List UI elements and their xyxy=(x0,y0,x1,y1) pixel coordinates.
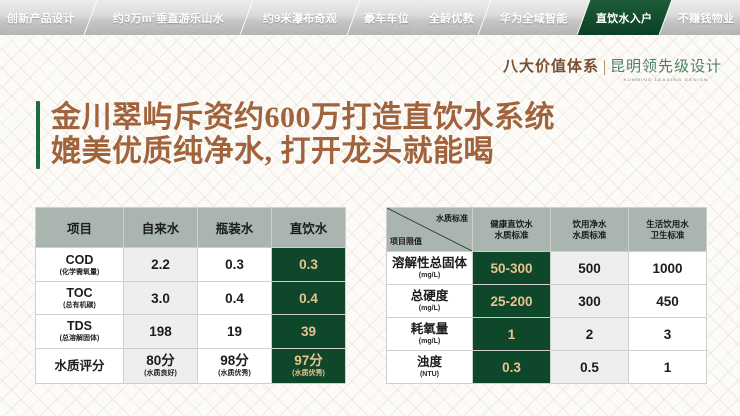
cell-value: 50-300 xyxy=(473,261,550,276)
nav-tab-label: 约9米瀑布奇观 xyxy=(263,10,337,26)
nav-tab-label: 全龄优教 xyxy=(429,10,474,26)
cell-value: 39 xyxy=(272,324,345,339)
value-cell: 80分(水质良好) xyxy=(124,348,198,383)
page-title: 金川翠屿斥资约600万打造直饮水系统 媲美优质纯净水, 打开龙头就能喝 xyxy=(51,101,555,169)
cell-value: 198 xyxy=(124,324,197,339)
nav-tab-label: 创新产品设计 xyxy=(7,10,75,26)
table-row: 浊度(NTU)0.30.51 xyxy=(387,351,707,384)
cell-value: 2 xyxy=(551,327,628,342)
diagonal-header-bottom-left: 项目限值 xyxy=(390,236,422,247)
table-header-row: 水质标准项目限值健康直饮水水质标准饮用净水水质标准生活饮用水卫生标准 xyxy=(387,208,707,252)
column-header-line-2: 卫生标准 xyxy=(629,230,706,241)
cell-value: 500 xyxy=(551,261,628,276)
cell-value: 2.2 xyxy=(124,257,197,272)
headline-accent-bar xyxy=(36,101,40,169)
brand-lockup: 八大价值体系 昆明领先级设计 KUNMING LEADING DESIGN xyxy=(503,58,722,82)
cell-value: 98分(水质优秀) xyxy=(198,353,271,378)
cell-subvalue: (水质优秀) xyxy=(272,369,345,378)
column-header-2: 自来水 xyxy=(124,208,198,248)
row-sublabel: (化学需氧量) xyxy=(36,268,123,277)
water-standard-table: 水质标准项目限值健康直饮水水质标准饮用净水水质标准生活饮用水卫生标准溶解性总固体… xyxy=(386,207,707,384)
table-row: 总硬度(mg/L)25-200300450 xyxy=(387,285,707,318)
row-label-cell: 溶解性总固体(mg/L) xyxy=(387,252,473,285)
value-cell: 3 xyxy=(629,318,707,351)
row-label: TDS(总溶解固体) xyxy=(36,319,123,343)
cell-value: 1 xyxy=(473,327,550,342)
table-row: TDS(总溶解固体)1981939 xyxy=(36,315,346,348)
nav-tab-3[interactable]: 约9米瀑布奇观 xyxy=(240,0,360,35)
value-cell: 98分(水质优秀) xyxy=(198,348,272,383)
cell-value: 3 xyxy=(629,327,706,342)
diagonal-header-cell: 水质标准项目限值 xyxy=(387,208,473,252)
row-label: COD(化学需氧量) xyxy=(36,253,123,277)
value-cell: 0.4 xyxy=(272,281,346,314)
table-row: TOC(总有机碳)3.00.40.4 xyxy=(36,281,346,314)
table-row: COD(化学需氧量)2.20.30.3 xyxy=(36,248,346,281)
nav-tab-1[interactable]: 创新产品设计 xyxy=(0,0,97,35)
column-header-4: 直饮水 xyxy=(272,208,346,248)
cell-value: 300 xyxy=(551,294,628,309)
row-label: 总硬度(mg/L) xyxy=(387,289,472,313)
row-unit: (NTU) xyxy=(387,370,472,379)
nav-tab-8[interactable]: 不赚钱物业 xyxy=(659,0,740,35)
column-header-2: 饮用净水水质标准 xyxy=(551,208,629,252)
row-label-cell: 总硬度(mg/L) xyxy=(387,285,473,318)
row-unit: (mg/L) xyxy=(387,304,472,313)
cell-subvalue: (水质优秀) xyxy=(198,369,271,378)
nav-tab-label: 直饮水入户 xyxy=(596,10,653,26)
value-cell: 198 xyxy=(124,315,198,348)
row-label: TOC(总有机碳) xyxy=(36,286,123,310)
value-cell: 97分(水质优秀) xyxy=(272,348,346,383)
cell-value: 0.4 xyxy=(272,291,345,306)
headline-block: 金川翠屿斥资约600万打造直饮水系统 媲美优质纯净水, 打开龙头就能喝 xyxy=(36,101,555,169)
value-cell: 1 xyxy=(629,351,707,384)
nav-tab-label: 华为全域智能 xyxy=(500,10,568,26)
headline-line-2: 媲美优质纯净水, 打开龙头就能喝 xyxy=(51,135,555,169)
cell-value: 97分(水质优秀) xyxy=(272,353,345,378)
cell-value: 80分(水质良好) xyxy=(124,353,197,378)
row-label: 浊度(NTU) xyxy=(387,355,472,379)
value-cell: 19 xyxy=(198,315,272,348)
cell-value: 19 xyxy=(198,324,271,339)
brand-divider xyxy=(604,60,605,75)
value-cell: 0.3 xyxy=(198,248,272,281)
value-cell: 0.5 xyxy=(551,351,629,384)
brand-subtitle: 昆明领先级设计 xyxy=(610,58,722,76)
table-row: 耗氧量(mg/L)123 xyxy=(387,318,707,351)
tables-container: 项目自来水瓶装水直饮水COD(化学需氧量)2.20.30.3TOC(总有机碳)3… xyxy=(0,207,740,384)
value-cell: 50-300 xyxy=(473,252,551,285)
column-header-1: 健康直饮水水质标准 xyxy=(473,208,551,252)
nav-tab-label: 豪车车位 xyxy=(363,10,408,26)
value-cell: 1000 xyxy=(629,252,707,285)
row-unit: (mg/L) xyxy=(387,271,472,280)
column-header-line-1: 生活饮用水 xyxy=(629,219,706,230)
row-label: 水质评分 xyxy=(36,359,123,373)
value-cell: 3.0 xyxy=(124,281,198,314)
column-header-line-2: 水质标准 xyxy=(473,230,550,241)
table-row: 水质评分80分(水质良好)98分(水质优秀)97分(水质优秀) xyxy=(36,348,346,383)
row-label-cell: TDS(总溶解固体) xyxy=(36,315,124,348)
cell-value: 450 xyxy=(629,294,706,309)
value-cell: 500 xyxy=(551,252,629,285)
value-cell: 39 xyxy=(272,315,346,348)
water-comparison-table: 项目自来水瓶装水直饮水COD(化学需氧量)2.20.30.3TOC(总有机碳)3… xyxy=(35,207,346,384)
column-header-1: 项目 xyxy=(36,208,124,248)
column-header-3: 生活饮用水卫生标准 xyxy=(629,208,707,252)
cell-value: 1000 xyxy=(629,261,706,276)
row-label: 溶解性总固体(mg/L) xyxy=(387,256,472,280)
row-label-cell: 浊度(NTU) xyxy=(387,351,473,384)
value-cell: 450 xyxy=(629,285,707,318)
row-label-cell: 水质评分 xyxy=(36,348,124,383)
value-cell: 300 xyxy=(551,285,629,318)
headline-line-1: 金川翠屿斥资约600万打造直饮水系统 xyxy=(51,101,555,135)
column-header-line-1: 饮用净水 xyxy=(551,219,628,230)
value-cell: 2 xyxy=(551,318,629,351)
value-cell: 1 xyxy=(473,318,551,351)
cell-value: 0.4 xyxy=(198,291,271,306)
column-header-line-2: 水质标准 xyxy=(551,230,628,241)
cell-value: 0.3 xyxy=(272,257,345,272)
column-header-line-1: 健康直饮水 xyxy=(473,219,550,230)
brand-english-subtitle: KUNMING LEADING DESIGN xyxy=(624,77,709,82)
table-row: 溶解性总固体(mg/L)50-3005001000 xyxy=(387,252,707,285)
row-label-cell: 耗氧量(mg/L) xyxy=(387,318,473,351)
cell-value: 0.3 xyxy=(473,360,550,375)
table-header-row: 项目自来水瓶装水直饮水 xyxy=(36,208,346,248)
cell-subvalue: (水质良好) xyxy=(124,369,197,378)
value-cell: 0.4 xyxy=(198,281,272,314)
nav-tab-2[interactable]: 约3万m2垂直游乐山水 xyxy=(84,0,253,35)
superscript-two: 2 xyxy=(152,12,156,19)
value-cell: 2.2 xyxy=(124,248,198,281)
value-cell: 0.3 xyxy=(272,248,346,281)
nav-tab-7[interactable]: 直饮水入户 xyxy=(577,0,672,35)
value-cell: 0.3 xyxy=(473,351,551,384)
nav-tab-label: 不赚钱物业 xyxy=(678,10,735,26)
top-navigation-bar: 创新产品设计约3万m2垂直游乐山水约9米瀑布奇观豪车车位全龄优教华为全域智能直饮… xyxy=(0,0,740,35)
row-label-cell: COD(化学需氧量) xyxy=(36,248,124,281)
row-label-cell: TOC(总有机碳) xyxy=(36,281,124,314)
row-sublabel: (总有机碳) xyxy=(36,301,123,310)
value-cell: 25-200 xyxy=(473,285,551,318)
nav-tab-label: 约3万m2垂直游乐山水 xyxy=(113,10,224,26)
column-header-3: 瓶装水 xyxy=(198,208,272,248)
brand-main-title: 八大价值体系 xyxy=(503,58,599,76)
diagonal-header-top-right: 水质标准 xyxy=(436,213,468,224)
cell-value: 0.3 xyxy=(198,257,271,272)
nav-tab-6[interactable]: 华为全域智能 xyxy=(479,0,590,35)
row-unit: (mg/L) xyxy=(387,337,472,346)
cell-value: 25-200 xyxy=(473,294,550,309)
row-sublabel: (总溶解固体) xyxy=(36,334,123,343)
cell-value: 3.0 xyxy=(124,291,197,306)
cell-value: 1 xyxy=(629,360,706,375)
row-label: 耗氧量(mg/L) xyxy=(387,322,472,346)
brand-sub-group: 昆明领先级设计 KUNMING LEADING DESIGN xyxy=(610,58,722,82)
cell-value: 0.5 xyxy=(551,360,628,375)
